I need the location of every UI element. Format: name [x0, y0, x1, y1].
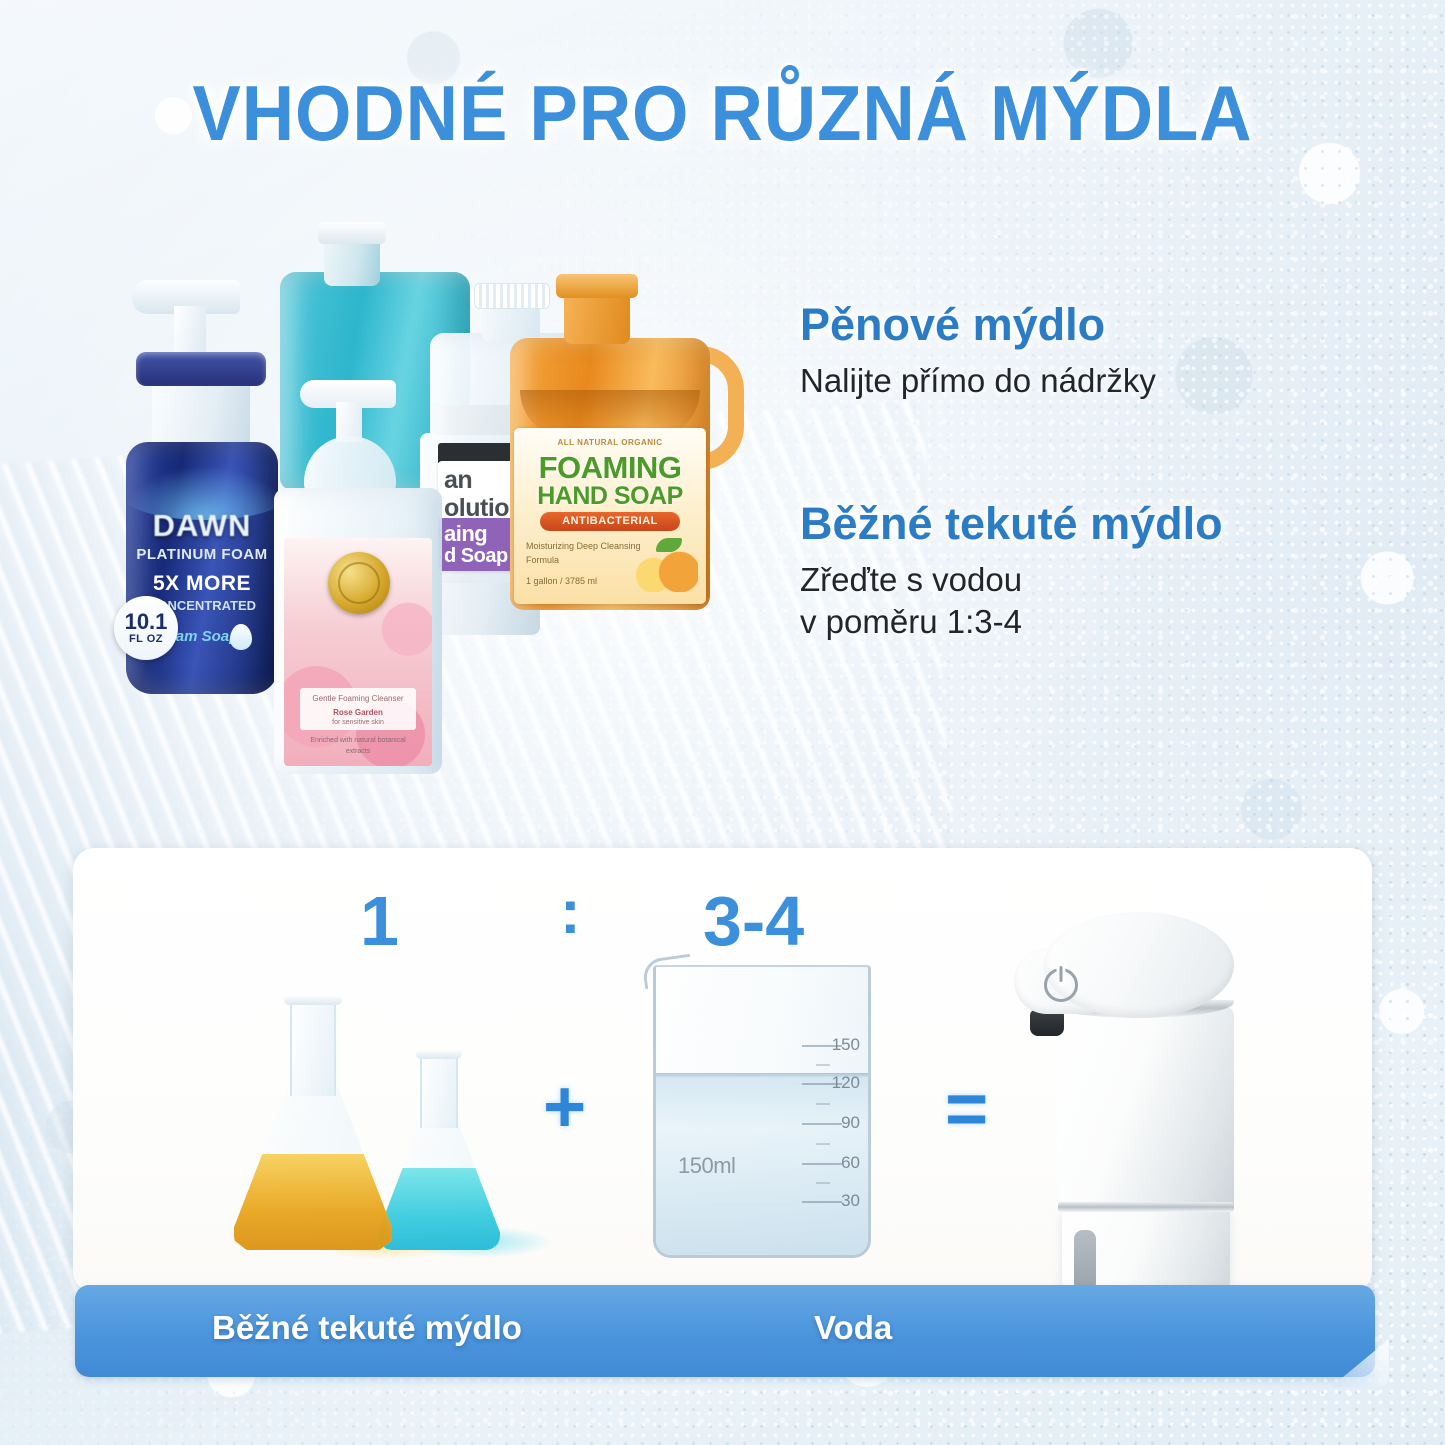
soap-flasks-group [228, 976, 528, 1256]
beaker-label-150: 150 [832, 1035, 860, 1055]
dispenser-body [1058, 1006, 1234, 1210]
label-line-4: d Soap [444, 545, 508, 568]
footer-legend-bar: Běžné tekuté mýdlo Voda [75, 1285, 1375, 1377]
brand-line-3: 5X MORE [126, 572, 278, 596]
brand-line-2: PLATINUM FOAM [126, 546, 278, 563]
flask-neck [420, 1054, 458, 1128]
equals-operator: = [945, 1072, 988, 1146]
pump-dome [304, 436, 396, 496]
flask-lip [416, 1049, 462, 1059]
beaker-minor-tick [816, 1182, 830, 1184]
flask-cone [378, 1124, 500, 1250]
label-tag: Gentle Foaming Cleanser Rose Garden for … [300, 688, 416, 730]
ratio-separator: : [560, 882, 581, 944]
pump-stem [174, 306, 206, 358]
instruction-line-1: Zřeďte s vodou [800, 559, 1360, 601]
label-footer-text: Enriched with natural botanical extracts [298, 736, 418, 758]
dispenser-top-cover [1044, 912, 1234, 1018]
instruction-heading: Pěnové mýdlo [800, 300, 1360, 350]
jug-cap [556, 274, 638, 298]
instruction-heading: Běžné tekuté mýdlo [800, 499, 1360, 549]
label-volume: 1 gallon / 3785 ml [526, 576, 597, 586]
label-line-3: aing [444, 521, 487, 547]
label-title-1: FOAMING [514, 450, 706, 486]
product-bottles-group: an olution aing d Soap ALL NATURAL ORGAN… [120, 215, 760, 775]
beaker-minor-tick [816, 1103, 830, 1105]
label-title-2: HAND SOAP [514, 482, 706, 511]
volume-badge-number: 10.1 [125, 611, 168, 633]
beaker-label-120: 120 [832, 1073, 860, 1093]
beaker-tick-90 [802, 1123, 842, 1125]
flask-liquid [378, 1168, 500, 1250]
footer-label-water: Voda [814, 1309, 892, 1347]
label-tagline: ALL NATURAL ORGANIC [514, 438, 706, 447]
beaker-label-60: 60 [841, 1153, 860, 1173]
flask-liquid [234, 1154, 392, 1250]
flask-amber [234, 1000, 392, 1250]
footer-label-soap: Běžné tekuté mýdlo [212, 1309, 522, 1347]
pump-collar [136, 352, 266, 386]
beaker-tick-60 [802, 1163, 842, 1165]
label-subtext: Moisturizing Deep Cleansing Formula [526, 540, 646, 567]
brand-name: DAWN [126, 508, 278, 544]
tag-line-3: for sensitive skin [300, 719, 416, 726]
flask-lip [284, 995, 342, 1005]
beaker-label-30: 30 [841, 1191, 860, 1211]
ratio-right-value: 3-4 [703, 886, 804, 956]
soap-dispenser [1010, 912, 1260, 1292]
water-beaker: 150 120 90 60 30 150ml [645, 955, 873, 1255]
flask-cyan [378, 1054, 500, 1250]
beaker-tick-30 [802, 1201, 842, 1203]
instruction-line-2: v poměru 1:3-4 [800, 601, 1360, 643]
dispenser-seam [1058, 1202, 1234, 1212]
gold-seal-icon [328, 552, 390, 614]
dispenser-level-window [1074, 1230, 1096, 1292]
product-dawn-bottle: DAWN PLATINUM FOAM 5X MORE CONCENTRATED … [120, 280, 295, 700]
beaker-label-90: 90 [841, 1113, 860, 1133]
jug-cap [318, 222, 386, 244]
water-drop-icon [230, 624, 252, 650]
beaker-glass: 150 120 90 60 30 150ml [653, 965, 871, 1258]
label-band-text: ANTIBACTERIAL [540, 512, 680, 531]
orange-fruit-icon [636, 548, 698, 592]
instruction-block-foam-soap: Pěnové mýdlo Nalijte přímo do nádržky [800, 300, 1360, 403]
instructions-column: Pěnové mýdlo Nalijte přímo do nádržky Bě… [800, 300, 1360, 739]
tag-line-1: Gentle Foaming Cleanser [300, 694, 416, 703]
volume-badge-unit: FL OZ [129, 633, 163, 645]
volume-badge: 10.1 FL OZ [114, 596, 178, 660]
instruction-block-liquid-soap: Běžné tekuté mýdlo Zřeďte s vodou v pomě… [800, 499, 1360, 644]
bottle-body: Gentle Foaming Cleanser Rose Garden for … [274, 488, 442, 774]
product-orange-jug: ALL NATURAL ORGANIC FOAMING HAND SOAP AN… [510, 280, 710, 610]
flask-neck [290, 1000, 336, 1096]
flask-cone [234, 1088, 392, 1250]
beaker-minor-tick [816, 1064, 830, 1066]
page-title: VHODNÉ PRO RŮZNÁ MÝDLA [51, 74, 1395, 152]
power-icon[interactable] [1044, 968, 1078, 1002]
instruction-line-1: Nalijte přímo do nádržky [800, 360, 1360, 402]
bottle-shoulder [152, 382, 250, 450]
plus-operator: + [543, 1070, 586, 1144]
infographic-stage: VHODNÉ PRO RŮZNÁ MÝDLA an olution aing d… [0, 0, 1445, 1445]
tag-line-2: Rose Garden [300, 708, 416, 717]
bottle-label: Gentle Foaming Cleanser Rose Garden for … [284, 538, 432, 766]
label-band: ANTIBACTERIAL [540, 512, 680, 531]
beaker-minor-tick [816, 1143, 830, 1145]
ratio-left-value: 1 [360, 886, 399, 956]
label-line-1: an [444, 466, 472, 495]
product-floral-pump: Gentle Foaming Cleanser Rose Garden for … [270, 380, 445, 780]
beaker-volume-label: 150ml [678, 1153, 735, 1179]
jug-label: ALL NATURAL ORGANIC FOAMING HAND SOAP AN… [514, 428, 706, 604]
